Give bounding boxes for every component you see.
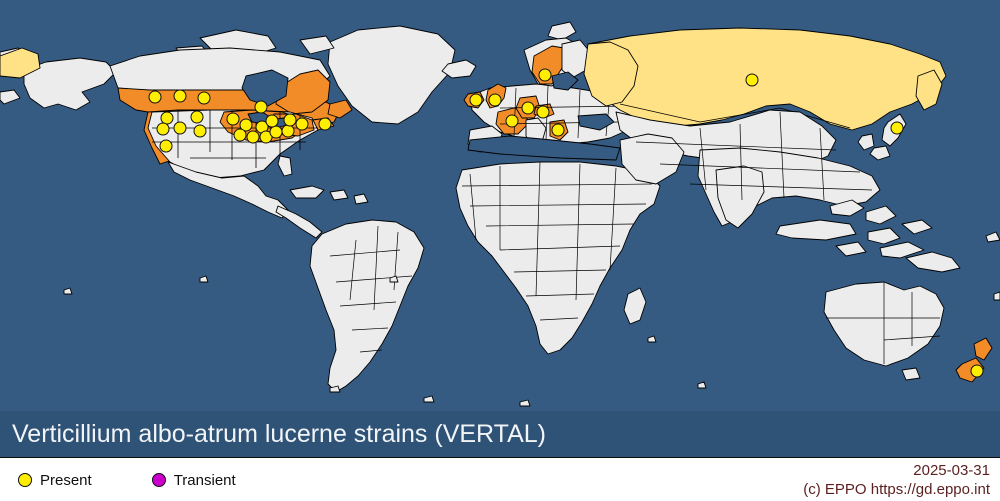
marker-new-england[interactable] xyxy=(296,118,309,131)
marker-idaho[interactable] xyxy=(174,122,187,135)
map-date: 2025-03-31 xyxy=(803,461,990,480)
legend-bar: Present Transient 2025-03-31 (c) EPPO ht… xyxy=(0,457,1000,501)
page-title: Verticillium albo-atrum lucerne strains … xyxy=(0,421,546,448)
credits: 2025-03-31 (c) EPPO https://gd.eppo.int xyxy=(803,461,990,499)
marker-germany[interactable] xyxy=(522,102,535,115)
marker-montana[interactable] xyxy=(191,111,204,124)
marker-sweden[interactable] xyxy=(539,69,552,82)
marker-france[interactable] xyxy=(506,115,519,128)
legend-entry-present: Present xyxy=(18,472,92,489)
legend-entry-transient: Transient xyxy=(152,472,236,489)
title-bar: Verticillium albo-atrum lucerne strains … xyxy=(0,411,1000,457)
present-marker-icon xyxy=(18,473,32,487)
marker-ontario-south[interactable] xyxy=(266,115,279,128)
legend-label-transient: Transient xyxy=(174,472,236,489)
marker-ontario-north[interactable] xyxy=(255,101,268,114)
marker-wyoming[interactable] xyxy=(194,125,207,138)
transient-marker-icon xyxy=(152,473,166,487)
eppo-distribution-map: Verticillium albo-atrum lucerne strains … xyxy=(0,0,1000,501)
world-map-svg xyxy=(0,0,1000,411)
legend-label-present: Present xyxy=(40,472,92,489)
marker-japan[interactable] xyxy=(891,122,904,135)
marker-minnesota[interactable] xyxy=(227,113,240,126)
marker-russia[interactable] xyxy=(746,74,759,87)
marker-california[interactable] xyxy=(160,140,173,153)
marker-nova-scotia[interactable] xyxy=(319,118,332,131)
marker-czechia[interactable] xyxy=(537,106,550,119)
marker-pennsylvania[interactable] xyxy=(282,125,295,138)
marker-oregon[interactable] xyxy=(157,123,170,136)
marker-united-kingdom[interactable] xyxy=(489,94,502,107)
world-map[interactable] xyxy=(0,0,1000,411)
marker-ireland[interactable] xyxy=(470,94,483,107)
marker-new-zealand[interactable] xyxy=(971,365,984,378)
marker-british-columbia[interactable] xyxy=(149,91,162,104)
map-source: (c) EPPO https://gd.eppo.int xyxy=(803,480,990,499)
marker-saskatchewan[interactable] xyxy=(198,92,211,105)
marker-iowa[interactable] xyxy=(234,129,247,142)
legend: Present Transient xyxy=(18,458,296,501)
marker-greece[interactable] xyxy=(552,124,565,137)
marker-alberta[interactable] xyxy=(174,90,187,103)
